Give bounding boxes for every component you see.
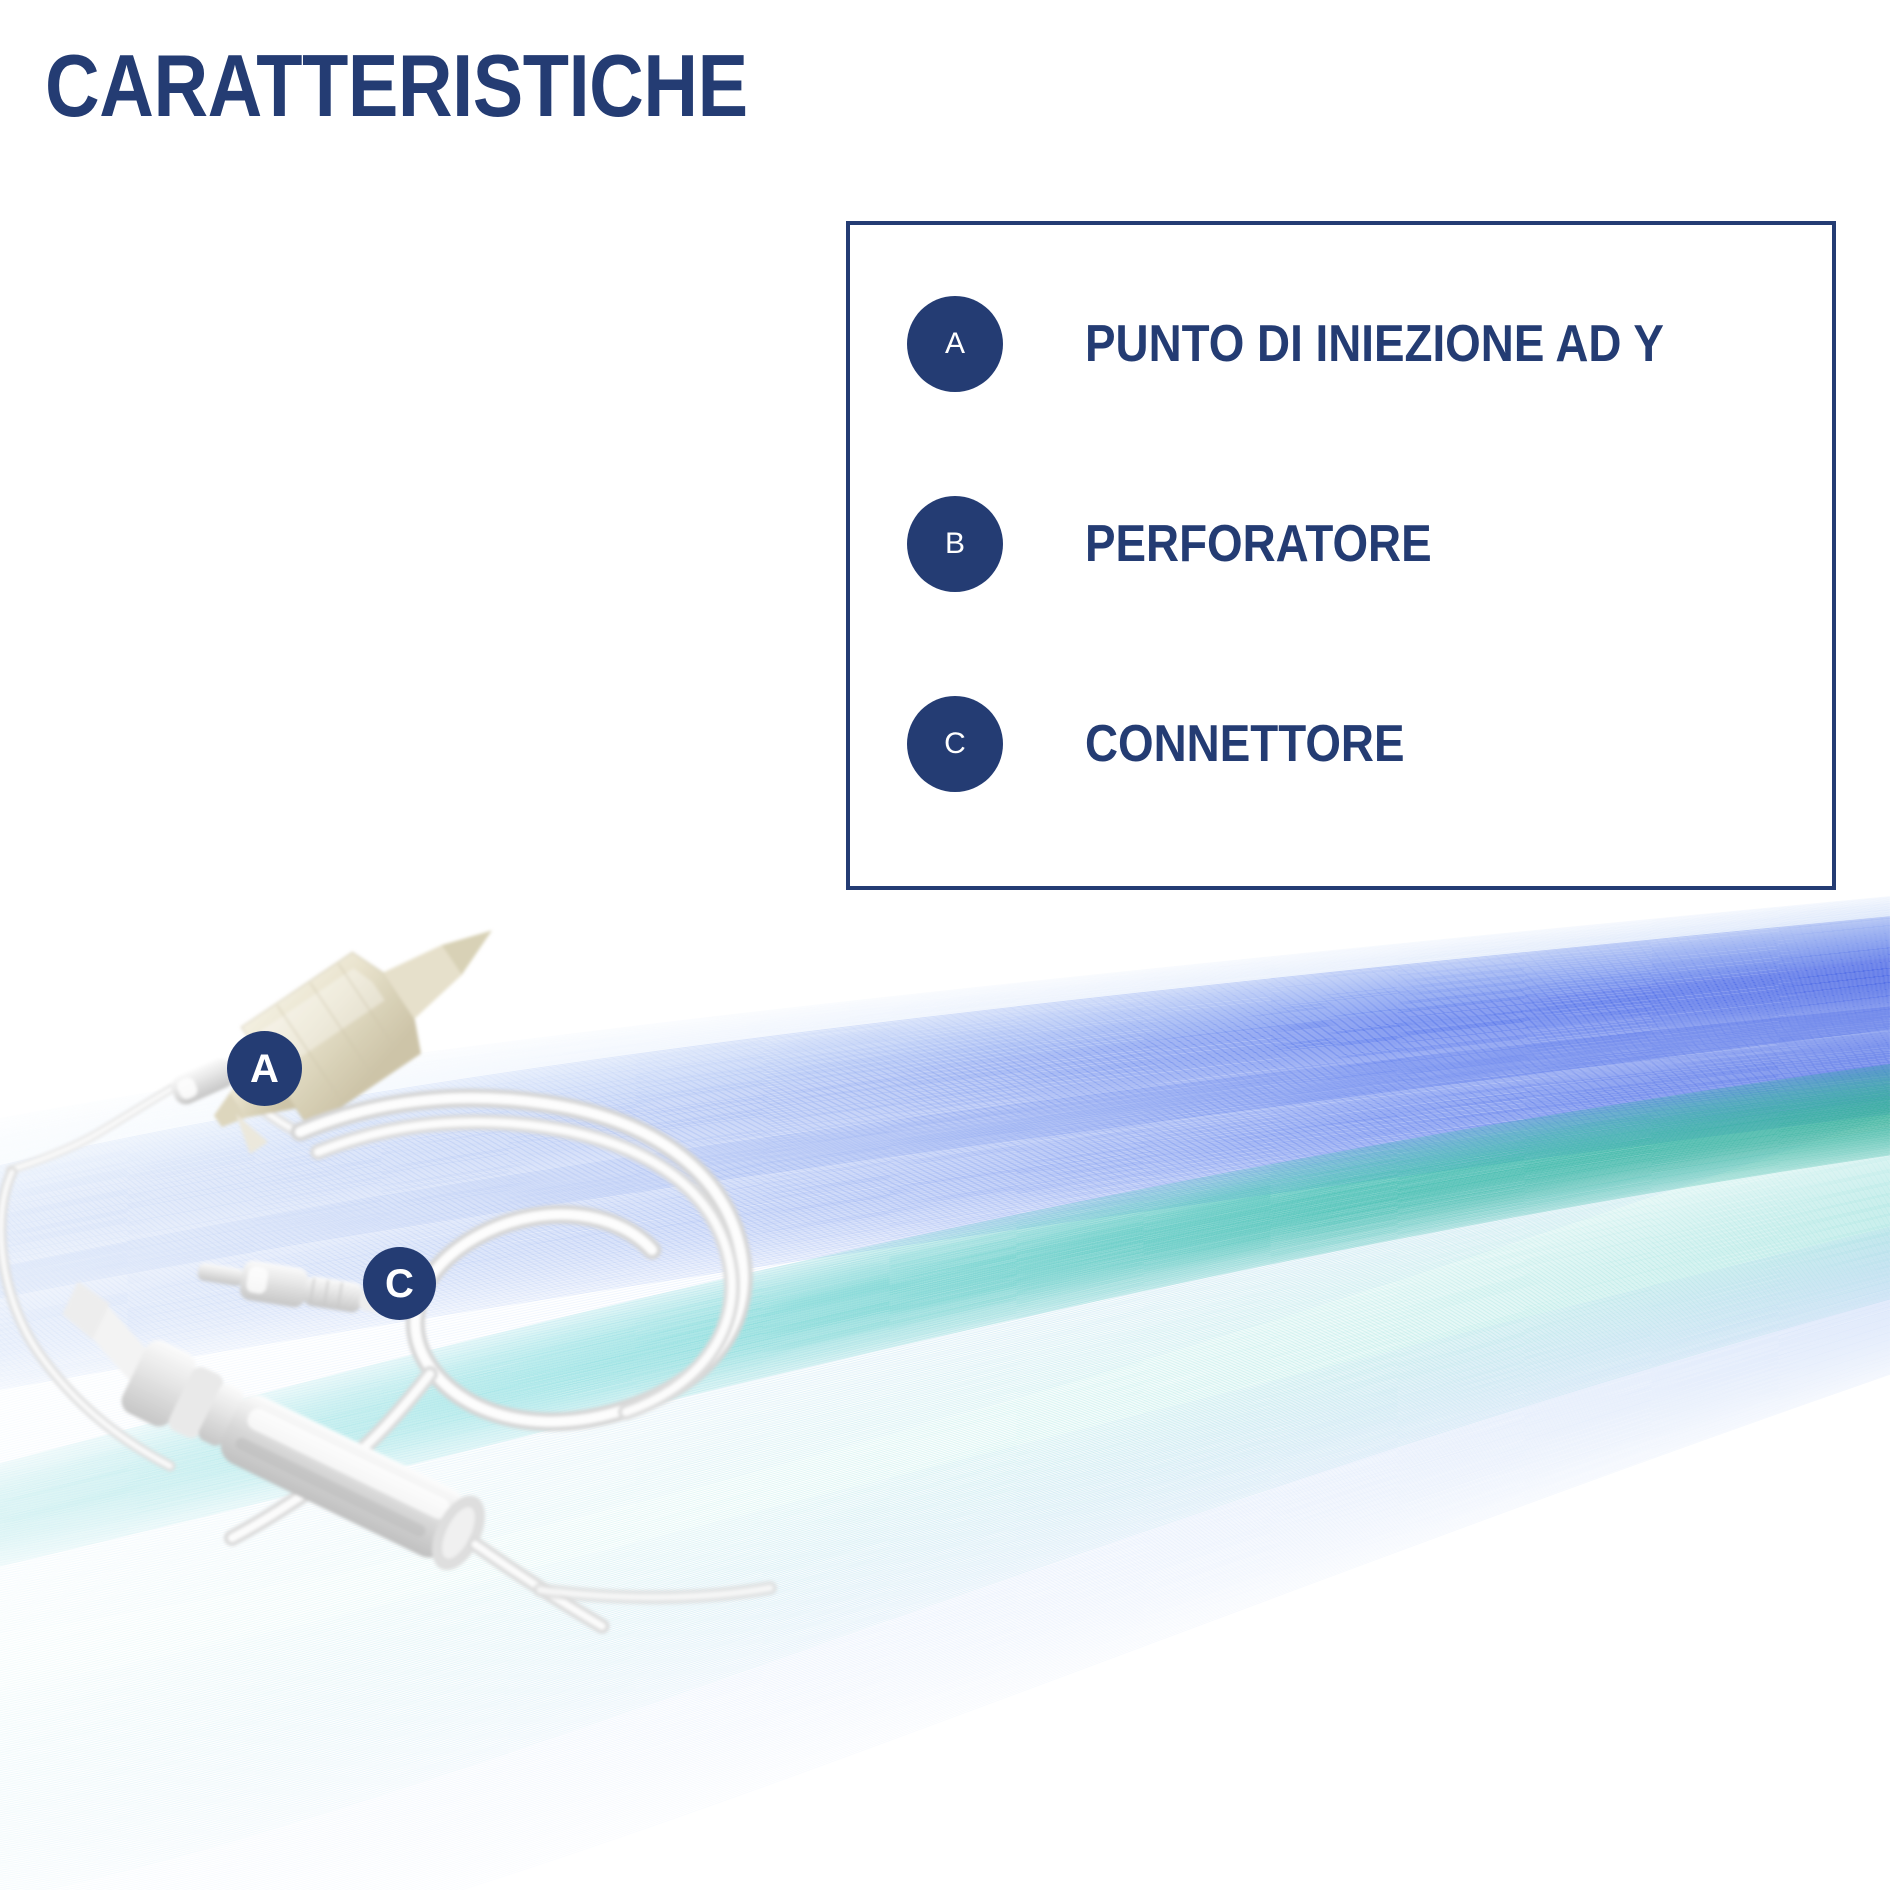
legend-label-a: PUNTO DI INIEZIONE AD Y <box>1085 318 1664 370</box>
legend-item-a: A PUNTO DI INIEZIONE AD Y <box>907 296 1743 392</box>
photo-marker-a: A <box>227 1031 302 1106</box>
legend-badge-c: C <box>907 696 1003 792</box>
legend-badge-b: B <box>907 496 1003 592</box>
photo-marker-c: C <box>363 1247 436 1320</box>
legend-box: A PUNTO DI INIEZIONE AD Y B PERFORATORE … <box>846 221 1836 890</box>
legend-label-b: PERFORATORE <box>1085 518 1432 570</box>
legend-item-c: C CONNETTORE <box>907 696 1448 792</box>
product-photo-iv-infusion-set <box>0 900 950 1800</box>
legend-label-c: CONNETTORE <box>1085 718 1404 770</box>
page-title: CARATTERISTICHE <box>45 42 748 130</box>
legend-item-b: B PERFORATORE <box>907 496 1479 592</box>
legend-badge-a: A <box>907 296 1003 392</box>
